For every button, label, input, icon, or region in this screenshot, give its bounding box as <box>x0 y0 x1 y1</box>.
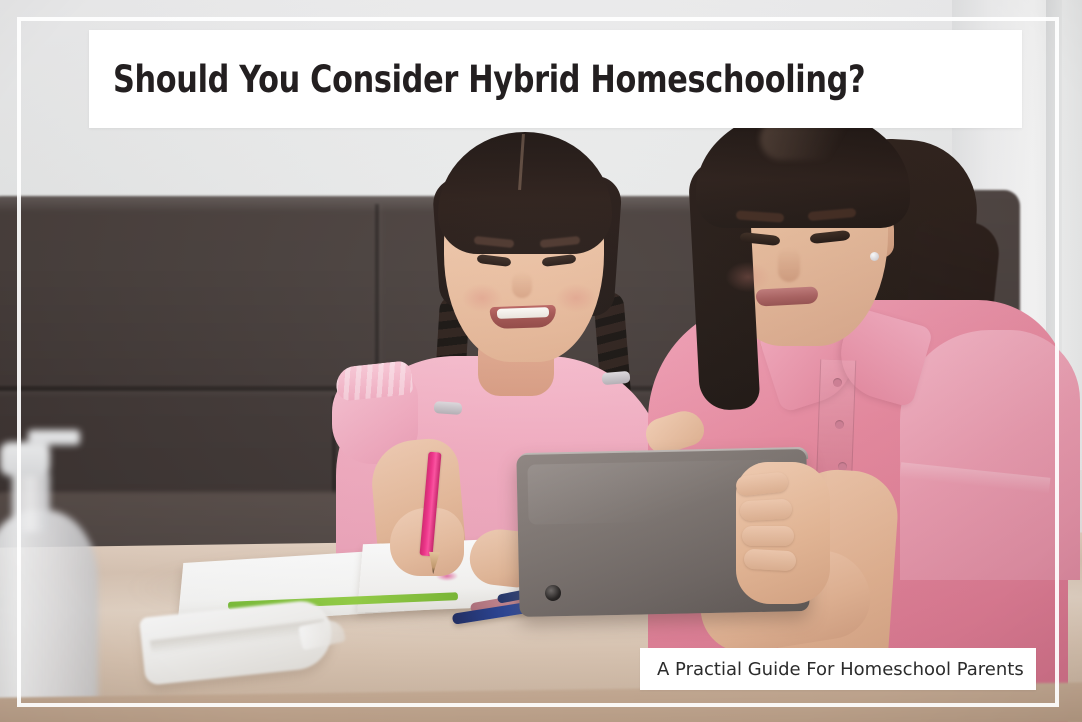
woman-earring <box>870 252 879 261</box>
girl-hair-tie-left <box>434 401 463 415</box>
woman-mouth <box>756 286 819 306</box>
girl-cheek-right <box>556 284 596 312</box>
girl-nose <box>512 272 532 298</box>
sanitizer-bottle <box>0 418 98 722</box>
woman-cheek <box>726 262 770 292</box>
subtitle-banner: A Practial Guide For Homeschool Parents <box>640 648 1036 690</box>
woman-finger-3 <box>742 526 794 546</box>
page-title: Should You Consider Hybrid Homeschooling… <box>113 58 865 101</box>
bottle-body <box>0 510 98 722</box>
woman-nose <box>778 248 800 282</box>
girl-hair-tie-right <box>602 371 631 385</box>
title-banner: Should You Consider Hybrid Homeschooling… <box>89 30 1022 128</box>
bottle-neck <box>12 470 50 532</box>
woman-shirt-button-1 <box>833 378 842 387</box>
bottle-spout <box>28 430 80 445</box>
girl-teeth <box>497 307 549 319</box>
woman-finger-4 <box>744 549 797 572</box>
page-subtitle: A Practial Guide For Homeschool Parents <box>657 659 1024 680</box>
woman-shirt-button-2 <box>835 420 844 429</box>
woman-finger-2 <box>740 499 793 522</box>
woman-shoulder-right <box>900 330 1080 580</box>
bottle-pump <box>0 442 50 476</box>
banner-root: Should You Consider Hybrid Homeschooling… <box>0 0 1082 722</box>
